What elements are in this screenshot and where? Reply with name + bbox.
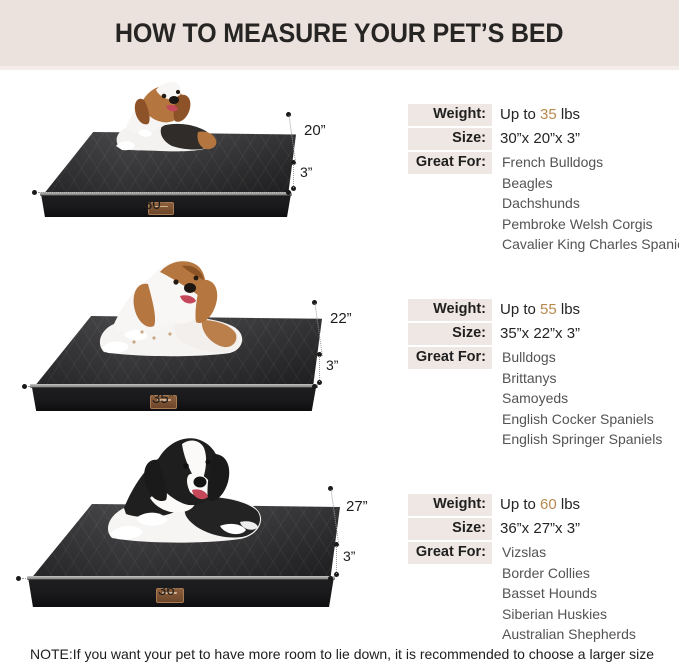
list-item: Brittanys bbox=[502, 368, 662, 389]
spec-row-size: Size: 30”x 20”x 3” bbox=[408, 128, 679, 150]
list-item: Dachshunds bbox=[502, 193, 679, 214]
dim-dot bbox=[328, 576, 333, 581]
dog-beagle bbox=[102, 76, 232, 156]
size-value: 35”x 22”x 3” bbox=[492, 323, 580, 345]
size-label: Size: bbox=[408, 128, 492, 150]
great-for-label: Great For: bbox=[408, 542, 492, 564]
dim-dot bbox=[312, 384, 317, 389]
breed-list: Bulldogs Brittanys Samoyeds English Cock… bbox=[492, 347, 662, 450]
size-label: Size: bbox=[408, 518, 492, 540]
dim-dot bbox=[286, 190, 291, 195]
list-item: English Cocker Spaniels bbox=[502, 409, 662, 430]
dim-label-width: 35” bbox=[152, 390, 174, 407]
list-item: Border Collies bbox=[502, 563, 636, 584]
dim-label-width: 36” bbox=[158, 582, 180, 599]
dim-label-width: 30” bbox=[144, 196, 166, 213]
list-item: Bulldogs bbox=[502, 347, 662, 368]
dim-label-height: 3” bbox=[343, 548, 355, 564]
spec-table-medium: Weight: Up to 55 lbs Size: 35”x 22”x 3” … bbox=[408, 299, 662, 452]
breed-list: Vizslas Border Collies Basset Hounds Sib… bbox=[492, 542, 636, 645]
spec-table-small: Weight: Up to 35 lbs Size: 30”x 20”x 3” … bbox=[408, 104, 679, 257]
list-item: Australian Shepherds bbox=[502, 624, 636, 645]
size-section-medium: 35” 22” 3” Weight: Up to 55 lbs Size: 35… bbox=[0, 254, 679, 446]
bed-illustration-medium: 35” 22” 3” bbox=[26, 282, 322, 412]
spec-row-weight: Weight: Up to 35 lbs bbox=[408, 104, 679, 126]
list-item: Siberian Huskies bbox=[502, 604, 636, 625]
weight-label: Weight: bbox=[408, 494, 492, 516]
dim-line-width bbox=[28, 386, 312, 387]
dim-line-width bbox=[38, 192, 286, 193]
page-title: HOW TO MEASURE YOUR PET’S BED bbox=[115, 18, 564, 49]
spec-row-great-for: Great For: French Bulldogs Beagles Dachs… bbox=[408, 152, 679, 255]
weight-number: 35 bbox=[540, 106, 557, 123]
dim-label-depth: 20” bbox=[304, 122, 326, 139]
dim-dot bbox=[32, 190, 37, 195]
page-header: HOW TO MEASURE YOUR PET’S BED bbox=[0, 0, 679, 66]
weight-label: Weight: bbox=[408, 299, 492, 321]
weight-label: Weight: bbox=[408, 104, 492, 126]
dim-label-depth: 27” bbox=[346, 498, 368, 515]
breed-list: French Bulldogs Beagles Dachshunds Pembr… bbox=[492, 152, 679, 255]
dim-label-depth: 22” bbox=[330, 310, 352, 327]
size-label: Size: bbox=[408, 323, 492, 345]
spec-row-size: Size: 35”x 22”x 3” bbox=[408, 323, 662, 345]
footer-note: NOTE:If you want your pet to have more r… bbox=[30, 646, 654, 662]
size-section-small: 30” 20” 3” Weight: Up to 35 lbs Size: 30… bbox=[0, 74, 679, 254]
spec-row-great-for: Great For: Bulldogs Brittanys Samoyeds E… bbox=[408, 347, 662, 450]
list-item: Vizslas bbox=[502, 542, 636, 563]
dim-label-height: 3” bbox=[326, 357, 338, 373]
spec-row-weight: Weight: Up to 60 lbs bbox=[408, 494, 636, 516]
spec-row-weight: Weight: Up to 55 lbs bbox=[408, 299, 662, 321]
dog-brittany bbox=[84, 256, 254, 360]
size-value: 30”x 20”x 3” bbox=[492, 128, 580, 150]
dim-label-height: 3” bbox=[300, 164, 312, 180]
spec-table-large: Weight: Up to 60 lbs Size: 36”x 27”x 3” … bbox=[408, 494, 636, 647]
list-item: Samoyeds bbox=[502, 388, 662, 409]
weight-value: Up to 60 lbs bbox=[492, 494, 580, 516]
dim-dot bbox=[22, 384, 27, 389]
dim-line-height bbox=[319, 356, 320, 382]
list-item: Pembroke Welsh Corgis bbox=[502, 214, 679, 235]
spec-row-great-for: Great For: Vizslas Border Collies Basset… bbox=[408, 542, 636, 645]
dog-border-collie bbox=[90, 430, 268, 548]
weight-number: 60 bbox=[540, 496, 557, 513]
spec-row-size: Size: 36”x 27”x 3” bbox=[408, 518, 636, 540]
weight-number: 55 bbox=[540, 301, 557, 318]
great-for-label: Great For: bbox=[408, 347, 492, 369]
great-for-label: Great For: bbox=[408, 152, 492, 174]
dim-dot bbox=[16, 576, 21, 581]
bed-illustration-large: 36” 27” 3” bbox=[22, 466, 340, 608]
header-divider bbox=[0, 66, 679, 70]
bed-illustration-small: 30” 20” 3” bbox=[36, 98, 296, 218]
size-value: 36”x 27”x 3” bbox=[492, 518, 580, 540]
dim-line-height bbox=[336, 546, 337, 574]
list-item: French Bulldogs bbox=[502, 152, 679, 173]
list-item: Cavalier King Charles Spaniels bbox=[502, 234, 679, 255]
dim-line-height bbox=[293, 164, 294, 188]
weight-value: Up to 35 lbs bbox=[492, 104, 580, 126]
list-item: Beagles bbox=[502, 173, 679, 194]
size-section-large: 36” 27” 3” Weight: Up to 60 lbs Size: 36… bbox=[0, 446, 679, 632]
dim-line-width bbox=[22, 578, 328, 579]
weight-value: Up to 55 lbs bbox=[492, 299, 580, 321]
list-item: Basset Hounds bbox=[502, 583, 636, 604]
